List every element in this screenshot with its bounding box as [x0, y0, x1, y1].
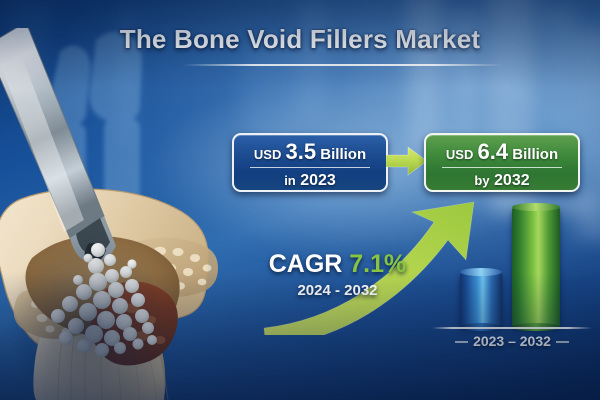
infographic-canvas: The Bone Void Fillers Market [0, 0, 600, 400]
background-vignette [0, 0, 600, 400]
